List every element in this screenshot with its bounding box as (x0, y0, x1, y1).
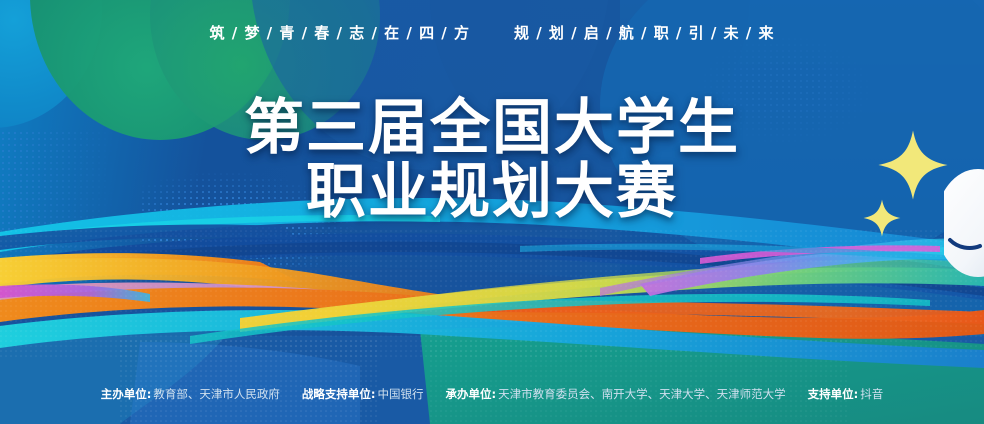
credit-strategic-support-value: 中国银行 (378, 386, 424, 402)
credit-host: 承办单位: 天津市教育委员会、南开大学、天津大学、天津师范大学 (446, 386, 786, 402)
credit-strategic-support-label: 战略支持单位: (302, 386, 376, 402)
credit-host-label: 承办单位: (446, 386, 497, 402)
credit-support-value: 抖音 (860, 386, 883, 402)
credit-organizer: 主办单位: 教育部、天津市人民政府 (101, 386, 280, 402)
tagline-left: 筑 / 梦 / 青 / 春 / 志 / 在 / 四 / 方 (210, 22, 470, 43)
tagline-row: 筑 / 梦 / 青 / 春 / 志 / 在 / 四 / 方 规 / 划 / 启 … (0, 22, 984, 43)
title-line-1: 第三届全国大学生 (0, 96, 984, 160)
title-line-2: 职业规划大赛 (0, 160, 984, 224)
credit-host-value: 天津市教育委员会、南开大学、天津大学、天津师范大学 (498, 386, 786, 402)
credit-organizer-label: 主办单位: (101, 386, 152, 402)
credit-support: 支持单位: 抖音 (808, 386, 884, 402)
poster-banner: 筑 / 梦 / 青 / 春 / 志 / 在 / 四 / 方 规 / 划 / 启 … (0, 0, 984, 424)
page-title: 第三届全国大学生 职业规划大赛 (0, 96, 984, 224)
credit-organizer-value: 教育部、天津市人民政府 (153, 386, 280, 402)
credits-row: 主办单位: 教育部、天津市人民政府 战略支持单位: 中国银行 承办单位: 天津市… (0, 386, 984, 402)
credit-support-label: 支持单位: (808, 386, 859, 402)
tagline-right: 规 / 划 / 启 / 航 / 职 / 引 / 未 / 来 (514, 22, 774, 43)
credit-strategic-support: 战略支持单位: 中国银行 (302, 386, 424, 402)
